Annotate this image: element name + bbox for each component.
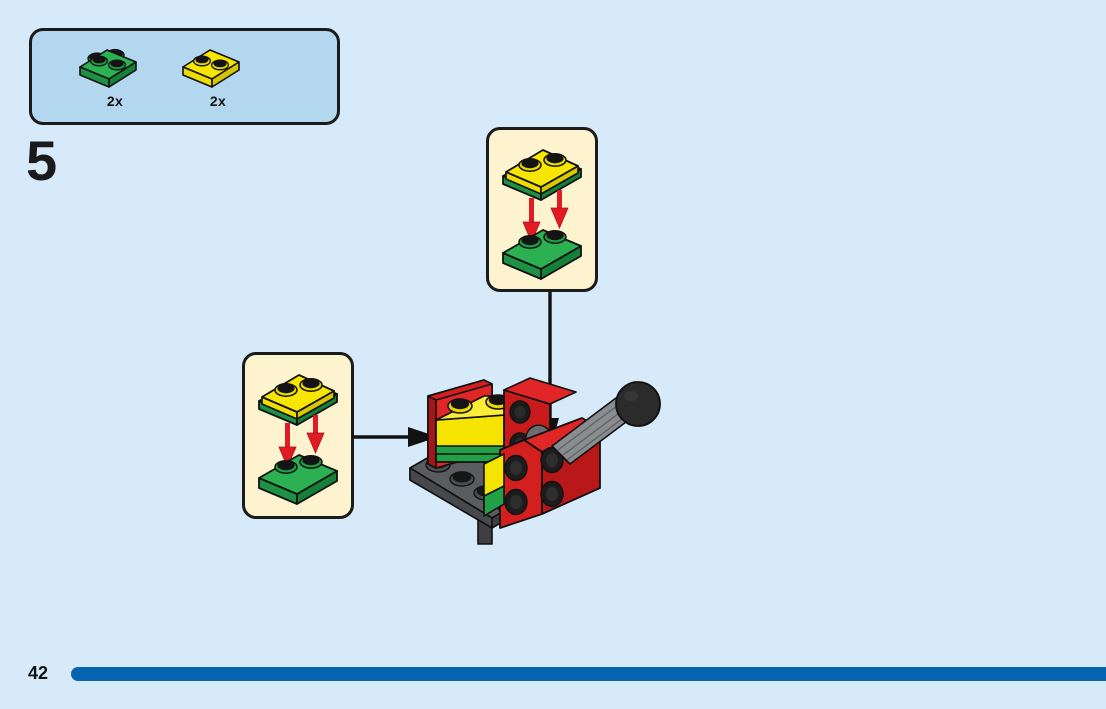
- parts-bin: 2x 2x: [29, 28, 340, 125]
- progress-bar: [71, 667, 1106, 681]
- part-count-label: 2x: [163, 93, 273, 109]
- part-count-label: 2x: [60, 93, 170, 109]
- part-slot-green-plate: 2x: [60, 45, 170, 117]
- step-number: 5: [26, 133, 56, 189]
- plate-1x2-yellow-icon: [163, 45, 273, 89]
- instruction-page: 2x 2x 5: [0, 0, 1106, 709]
- callout-top: [486, 127, 598, 292]
- callout-upper-plate: [503, 150, 581, 200]
- plate-1x2-green-icon: [60, 45, 170, 89]
- model-assembly: [400, 368, 675, 553]
- callout-top-art: [489, 130, 595, 289]
- page-number: 42: [28, 663, 48, 684]
- callout-lower-plate: [259, 455, 337, 504]
- callout-left-art: [245, 355, 351, 516]
- callout-left: [242, 352, 354, 519]
- callout-upper-plate: [259, 375, 337, 425]
- part-slot-yellow-plate: 2x: [163, 45, 273, 117]
- plate-pair-right-placed: [484, 454, 504, 516]
- callout-lower-plate: [503, 230, 581, 279]
